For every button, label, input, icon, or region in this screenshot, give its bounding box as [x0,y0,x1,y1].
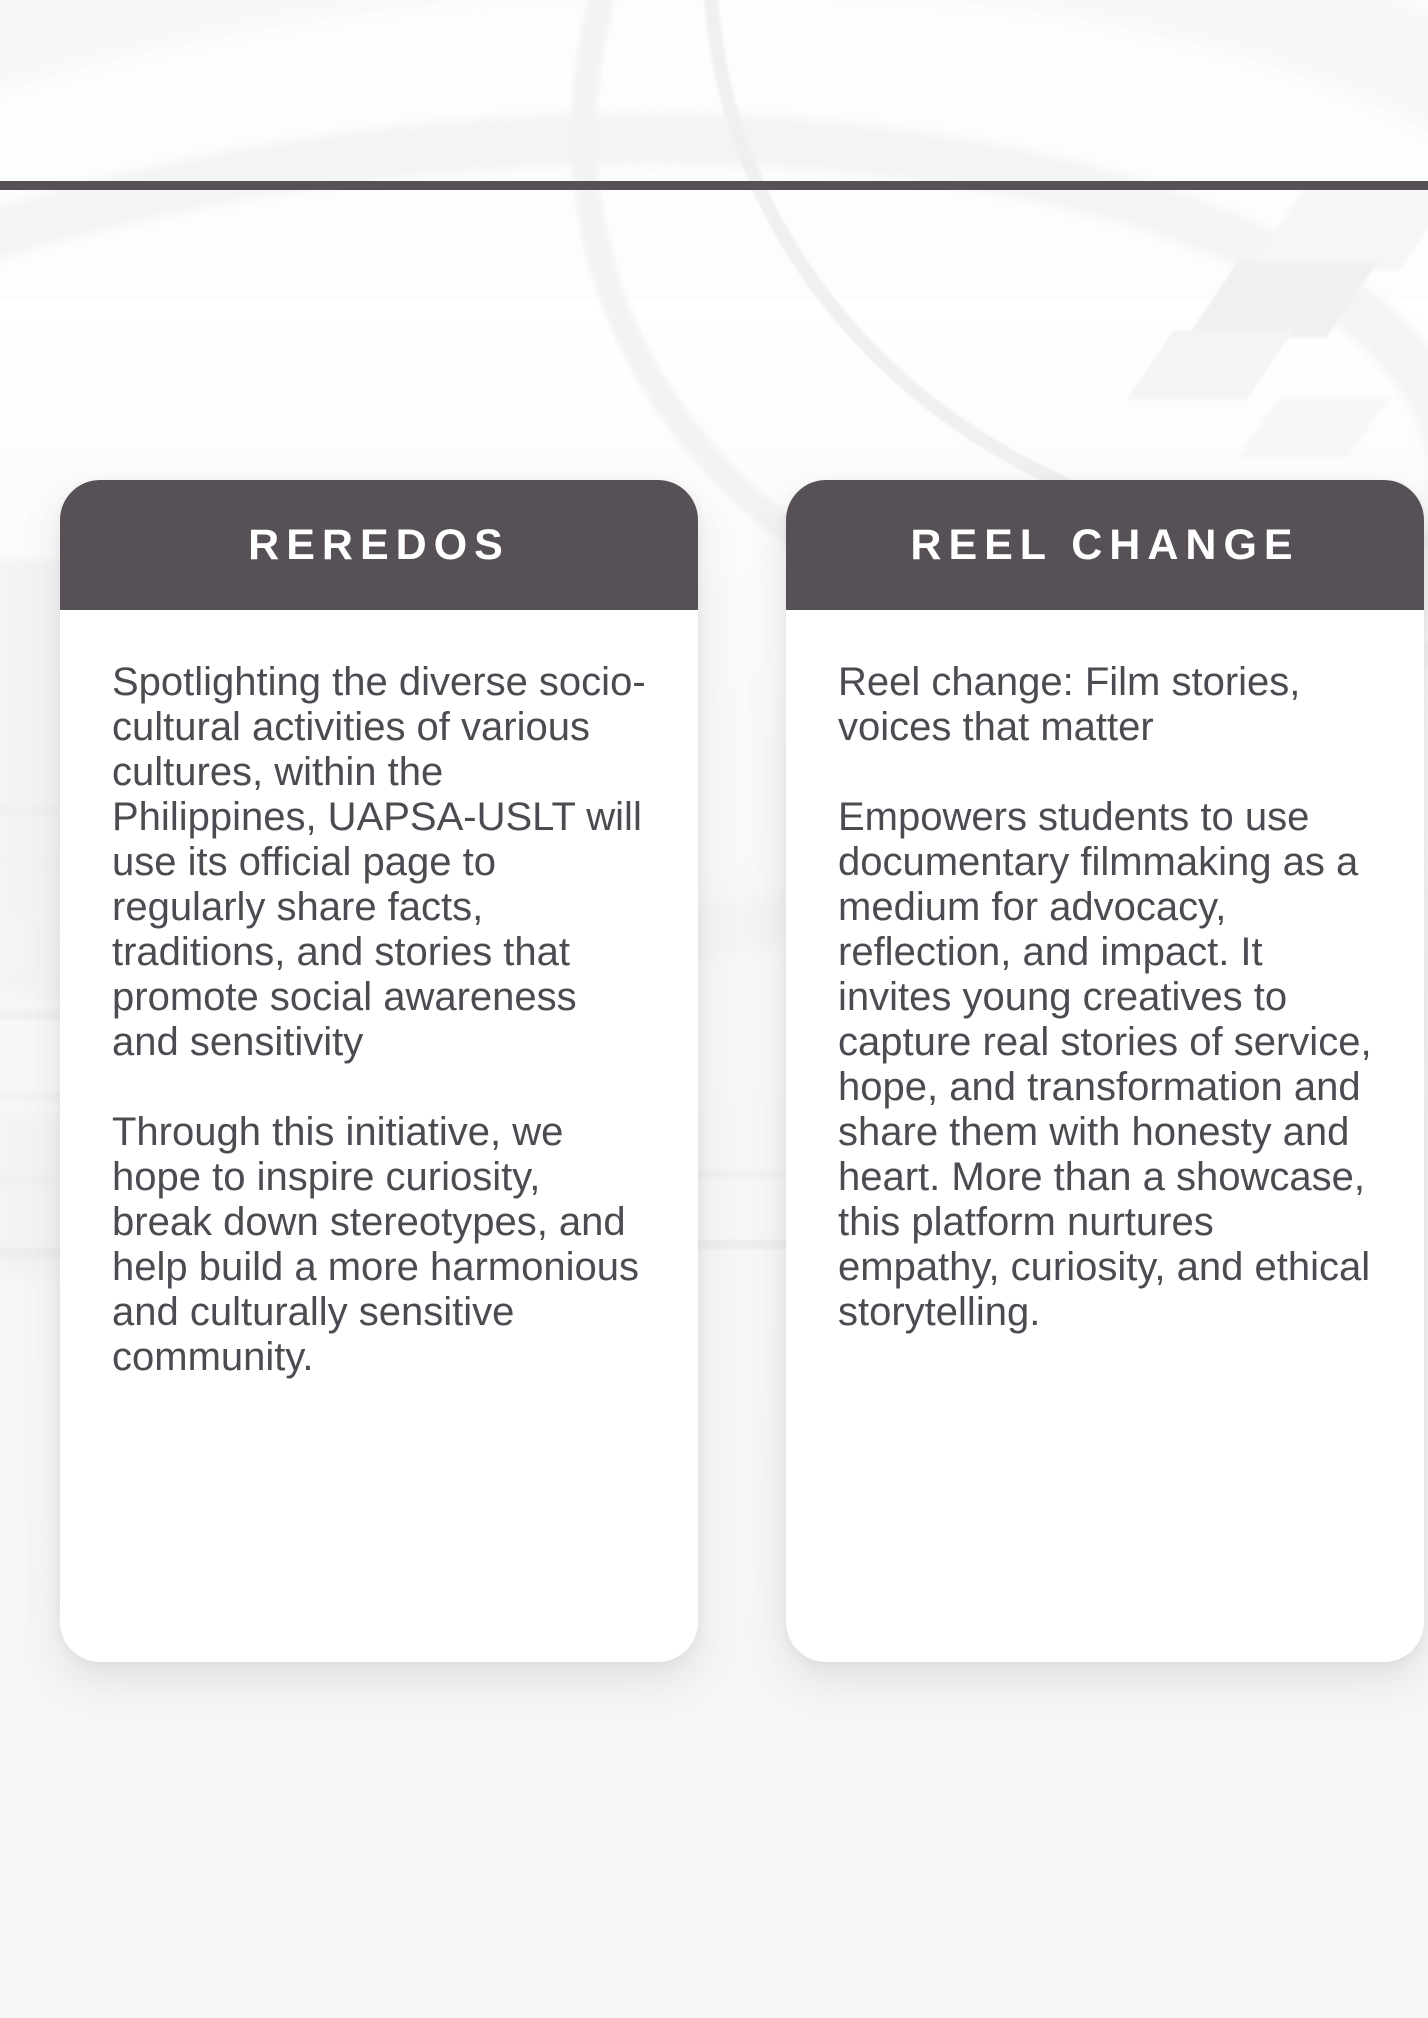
card-reel-change-paragraph-1: Reel change: Film stories, voices that m… [838,660,1372,750]
card-reredos-paragraph-2: Through this initiative, we hope to insp… [112,1110,646,1380]
card-reel-change-body: Reel change: Film stories, voices that m… [786,610,1424,1375]
card-reredos-header: REREDOS [60,480,698,610]
card-reel-change: REEL CHANGE Reel change: Film stories, v… [786,480,1424,1662]
card-reel-change-paragraph-2: Empowers students to use documentary fil… [838,795,1372,1335]
card-reredos: REREDOS Spotlighting the diverse socio-c… [60,480,698,1662]
card-reredos-body: Spotlighting the diverse socio-cultural … [60,610,698,1420]
card-reel-change-title: REEL CHANGE [910,524,1299,567]
card-reredos-paragraph-1: Spotlighting the diverse socio-cultural … [112,660,646,1065]
card-reel-change-header: REEL CHANGE [786,480,1424,610]
card-reredos-title: REREDOS [248,524,510,567]
top-divider-rule [0,181,1428,190]
